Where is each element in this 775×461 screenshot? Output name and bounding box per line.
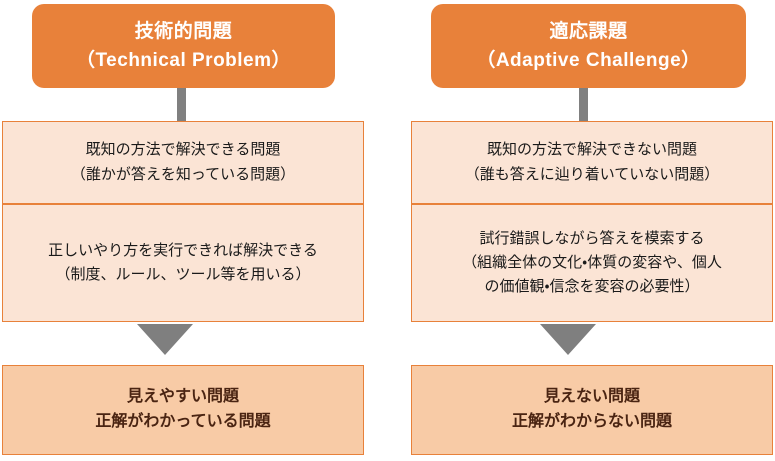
header-title-jp: 技術的問題: [135, 20, 233, 43]
body-line: の価値観・信念を変容の必要性）: [484, 275, 699, 299]
body-line: （制度、ルール、ツール等を用いる）: [55, 263, 310, 287]
body-line: 既知の方法で解決できない問題: [487, 138, 697, 162]
column-technical-problem: 技術的問題 （Technical Problem） 既知の方法で解決できる問題 …: [0, 0, 365, 461]
result-line: 見えやすい問題: [127, 385, 239, 410]
column-adaptive-challenge: 適応課題 （Adaptive Challenge） 既知の方法で解決できない問題…: [409, 0, 774, 461]
body-box-correct-way-execution: 正しいやり方を実行できれば解決できる （制度、ルール、ツール等を用いる）: [2, 204, 364, 322]
body-box-known-method-solvable: 既知の方法で解決できる問題 （誰かが答えを知っている問題）: [2, 121, 364, 204]
body-line: 既知の方法で解決できる問題: [86, 138, 281, 162]
result-box-invisible-problem: 見えない問題 正解がわからない問題: [411, 365, 773, 455]
body-line: 試行錯誤しながら答えを模索する: [479, 227, 704, 251]
header-title-en: （Technical Problem）: [76, 49, 291, 72]
body-line: （誰も答えに辿り着いていない問題）: [465, 163, 720, 187]
result-line: 正解がわからない問題: [512, 410, 672, 435]
arrow-down-icon: [137, 324, 193, 355]
header-title-en: （Adaptive Challenge）: [476, 49, 700, 72]
body-box-known-method-unsolvable: 既知の方法で解決できない問題 （誰も答えに辿り着いていない問題）: [411, 121, 773, 204]
body-line: （組織全体の文化・体質の変容や、個人: [462, 251, 722, 275]
body-line: （誰かが答えを知っている問題）: [71, 163, 295, 187]
vertical-connector-icon: [177, 88, 186, 122]
result-box-visible-problem: 見えやすい問題 正解がわかっている問題: [2, 365, 364, 455]
comparison-diagram: 技術的問題 （Technical Problem） 既知の方法で解決できる問題 …: [0, 0, 775, 461]
header-box-adaptive-challenge: 適応課題 （Adaptive Challenge）: [431, 4, 746, 88]
header-box-technical-problem: 技術的問題 （Technical Problem）: [32, 4, 335, 88]
arrow-down-icon: [540, 324, 596, 355]
header-title-jp: 適応課題: [549, 20, 627, 43]
vertical-connector-icon: [579, 88, 588, 122]
result-line: 見えない問題: [544, 385, 640, 410]
body-line: 正しいやり方を実行できれば解決できる: [48, 239, 318, 263]
result-line: 正解がわかっている問題: [95, 410, 270, 435]
body-box-trial-and-error: 試行錯誤しながら答えを模索する （組織全体の文化・体質の変容や、個人 の価値観・…: [411, 204, 773, 322]
